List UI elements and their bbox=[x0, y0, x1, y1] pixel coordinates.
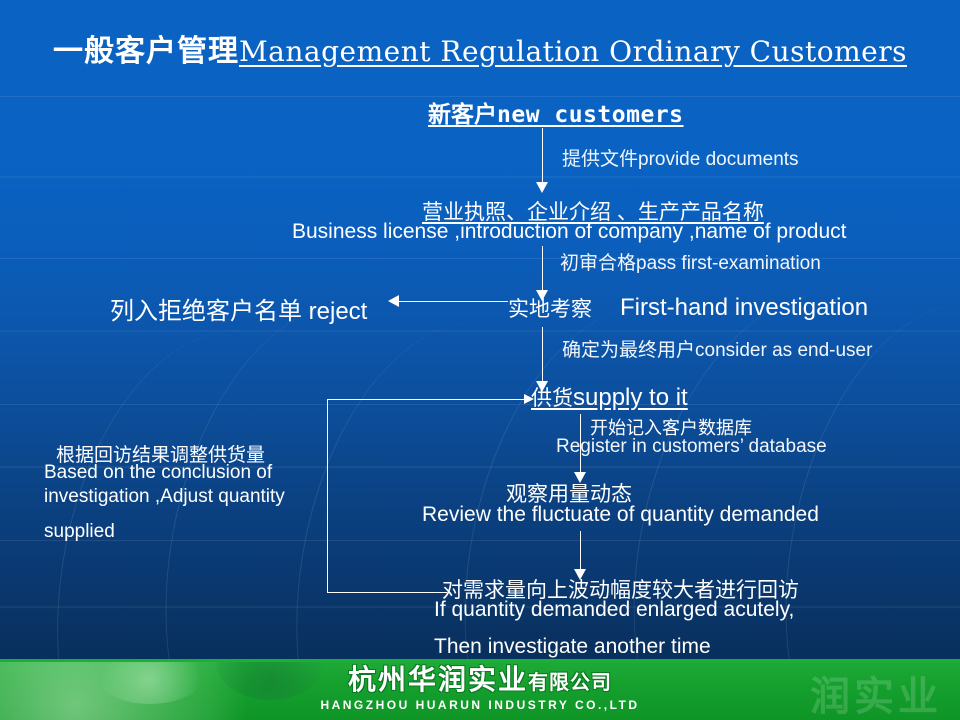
footer-company-cn-main: 杭州华润实业 bbox=[348, 663, 528, 696]
arrowhead-reject bbox=[388, 295, 399, 307]
node-revisit-en-line2: Then investigate another time bbox=[434, 635, 711, 659]
edge-label-provide-documents: 提供文件provide documents bbox=[562, 144, 799, 171]
loop-label-en-line3: supplied bbox=[44, 521, 115, 543]
footer-company-cn-suffix: 有限公司 bbox=[528, 670, 612, 694]
connector-end-user bbox=[542, 327, 543, 385]
connector-pass-first-exam bbox=[542, 246, 543, 294]
node-revisit-en-line1: If quantity demanded enlarged acutely, bbox=[434, 598, 794, 622]
node-reject: 列入拒绝客户名单 reject bbox=[110, 291, 367, 326]
footer-company-block: 杭州华润实业有限公司 HANGZHOU HUARUN INDUSTRY CO.,… bbox=[0, 662, 960, 713]
footer-company-en: HANGZHOU HUARUN INDUSTRY CO.,LTD bbox=[0, 697, 960, 713]
page-title: 一般客户管理Management Regulation Ordinary Cus… bbox=[0, 26, 960, 70]
loop-segment-left bbox=[327, 399, 328, 593]
page-title-cn: 一般客户管理 bbox=[53, 34, 239, 69]
slide-canvas: 一般客户管理Management Regulation Ordinary Cus… bbox=[0, 0, 960, 720]
page-title-en: Management Regulation Ordinary Customers bbox=[239, 35, 907, 68]
node-documents-en: Business license ,introduction of compan… bbox=[292, 220, 846, 244]
loop-segment-bottom bbox=[327, 592, 447, 593]
node-new-customers-label-cn: 新客户 bbox=[428, 101, 497, 128]
edge-label-register-en: Register in customers’ database bbox=[556, 436, 827, 458]
node-review-en: Review the fluctuate of quantity demande… bbox=[422, 503, 819, 527]
node-supply-label-en: supply to it bbox=[573, 384, 688, 411]
footer-banner: 润实业 杭州华润实业有限公司 HANGZHOU HUARUN INDUSTRY … bbox=[0, 659, 960, 720]
arrowhead-loop-to-supply bbox=[524, 394, 534, 404]
node-supply: 供货supply to it bbox=[531, 382, 688, 412]
loop-label-en-line1: Based on the conclusion of bbox=[44, 462, 272, 484]
edge-label-end-user: 确定为最终用户consider as end-user bbox=[562, 335, 872, 362]
loop-segment-top bbox=[327, 399, 532, 400]
connector-review-to-revisit bbox=[580, 531, 581, 573]
node-investigation-cn: 实地考察 bbox=[508, 293, 592, 323]
node-new-customers: 新客户new customers bbox=[428, 95, 684, 129]
footer-company-cn: 杭州华润实业有限公司 bbox=[0, 665, 960, 697]
node-new-customers-label-en: new customers bbox=[497, 102, 684, 128]
node-investigation-en: First-hand investigation bbox=[620, 294, 868, 322]
connector-reject bbox=[398, 301, 508, 302]
loop-label-en-line2: investigation ,Adjust quantity bbox=[44, 486, 285, 508]
connector-provide-documents bbox=[542, 128, 543, 186]
node-supply-label-cn: 供货 bbox=[531, 387, 573, 410]
arrowhead-provide-documents bbox=[536, 182, 548, 193]
edge-label-pass-first-exam: 初审合格pass first-examination bbox=[560, 248, 821, 275]
